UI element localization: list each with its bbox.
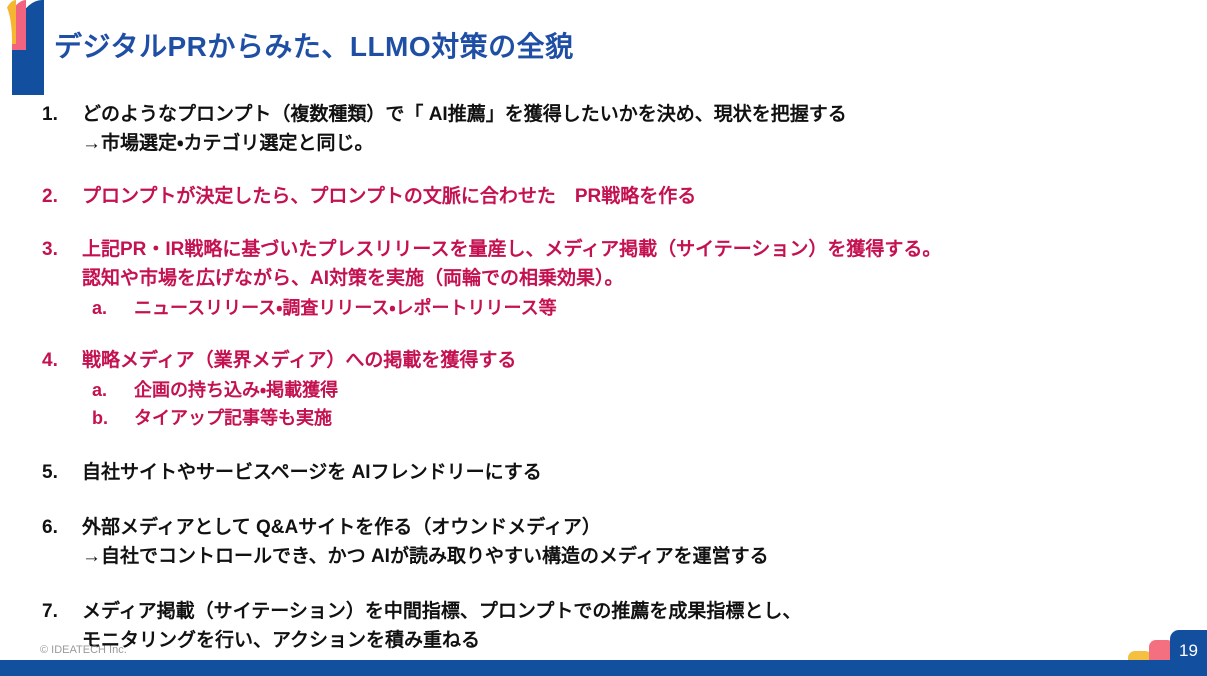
list-item-line: どのようなプロンプト（複数種類）で「 AI推薦」を獲得したいかを決め、現状を把握… xyxy=(82,100,1162,129)
list-item: 2.プロンプトが決定したら、プロンプトの文脈に合わせた PR戦略を作る xyxy=(42,182,1162,211)
list-item-body: どのようなプロンプト（複数種類）で「 AI推薦」を獲得したいかを決め、現状を把握… xyxy=(82,100,1162,158)
list-item-marker: 4. xyxy=(42,346,82,375)
footer-bar xyxy=(0,660,1207,676)
list-item-marker: 2. xyxy=(42,182,82,211)
list-item-body: 外部メディアとして Q&Aサイトを作る（オウンドメディア）→自社でコントロールで… xyxy=(82,513,1162,571)
content-list: 1.どのようなプロンプト（複数種類）で「 AI推薦」を獲得したいかを決め、現状を… xyxy=(42,100,1162,673)
copyright-notice: © IDEATECH Inc. xyxy=(40,644,127,656)
list-item: 7.メディア掲載（サイテーション）を中間指標、プロンプトでの推薦を成果指標とし、… xyxy=(42,597,1162,655)
list-item-line: 外部メディアとして Q&Aサイトを作る（オウンドメディア） xyxy=(82,513,1162,542)
list-item-marker: 3. xyxy=(42,235,82,264)
page-title: デジタルPRからみた、LLMO対策の全貌 xyxy=(54,25,574,65)
list-item-line: 自社サイトやサービスページを AIフレンドリーにする xyxy=(82,458,1162,487)
list-item-line: プロンプトが決定したら、プロンプトの文脈に合わせた PR戦略を作る xyxy=(82,182,1162,211)
list-item-line: 上記PR・IR戦略に基づいたプレスリリースを量産し、メディア掲載（サイテーション… xyxy=(82,235,1162,264)
sub-list-item: a.企画の持ち込み・掲載獲得 xyxy=(82,376,1162,404)
sub-list: a.企画の持ち込み・掲載獲得b.タイアップ記事等も実施 xyxy=(82,376,1162,432)
list-item-body: 戦略メディア（業界メディア）への掲載を獲得するa.企画の持ち込み・掲載獲得b.タ… xyxy=(82,346,1162,432)
list-item-line: モニタリングを行い、アクションを積み重ねる xyxy=(82,626,1162,655)
list-item-line: →市場選定・カテゴリ選定と同じ。 xyxy=(82,129,1162,158)
list-item-body: プロンプトが決定したら、プロンプトの文脈に合わせた PR戦略を作る xyxy=(82,182,1162,211)
sub-list: a.ニュースリリース・調査リリース・レポートリリース等 xyxy=(82,294,1162,322)
list-item: 5.自社サイトやサービスページを AIフレンドリーにする xyxy=(42,458,1162,487)
list-item-line: →自社でコントロールでき、かつ AIが読み取りやすい構造のメディアを運営する xyxy=(82,542,1162,571)
list-item-marker: 1. xyxy=(42,100,82,129)
list-item: 6.外部メディアとして Q&Aサイトを作る（オウンドメディア）→自社でコントロー… xyxy=(42,513,1162,571)
list-item-line: メディア掲載（サイテーション）を中間指標、プロンプトでの推薦を成果指標とし、 xyxy=(82,597,1162,626)
list-item: 4.戦略メディア（業界メディア）への掲載を獲得するa.企画の持ち込み・掲載獲得b… xyxy=(42,346,1162,432)
slide-canvas: デジタルPRからみた、LLMO対策の全貌 1.どのようなプロンプト（複数種類）で… xyxy=(0,0,1207,676)
list-item-body: 自社サイトやサービスページを AIフレンドリーにする xyxy=(82,458,1162,487)
list-item: 3.上記PR・IR戦略に基づいたプレスリリースを量産し、メディア掲載（サイテーシ… xyxy=(42,235,1162,322)
sub-list-item-label: ニュースリリース・調査リリース・レポートリリース等 xyxy=(134,294,557,322)
list-item-marker: 7. xyxy=(42,597,82,626)
sub-list-item-label: 企画の持ち込み・掲載獲得 xyxy=(134,376,338,404)
sub-list-item-label: タイアップ記事等も実施 xyxy=(134,404,332,432)
corner-accent-decoration xyxy=(0,0,46,96)
list-item-marker: 6. xyxy=(42,513,82,542)
list-item-line: 認知や市場を広げながら、AI対策を実施（両輪での相乗効果）。 xyxy=(82,264,1162,293)
list-item-body: 上記PR・IR戦略に基づいたプレスリリースを量産し、メディア掲載（サイテーション… xyxy=(82,235,1162,322)
list-item-marker: 5. xyxy=(42,458,82,487)
sub-list-item: a.ニュースリリース・調査リリース・レポートリリース等 xyxy=(82,294,1162,322)
sub-list-item-marker: b. xyxy=(92,404,134,432)
list-item-body: メディア掲載（サイテーション）を中間指標、プロンプトでの推薦を成果指標とし、モニ… xyxy=(82,597,1162,655)
sub-list-item-marker: a. xyxy=(92,294,134,322)
list-item: 1.どのようなプロンプト（複数種類）で「 AI推薦」を獲得したいかを決め、現状を… xyxy=(42,100,1162,158)
sub-list-item: b.タイアップ記事等も実施 xyxy=(82,404,1162,432)
sub-list-item-marker: a. xyxy=(92,376,134,404)
list-item-line: 戦略メディア（業界メディア）への掲載を獲得する xyxy=(82,346,1162,375)
